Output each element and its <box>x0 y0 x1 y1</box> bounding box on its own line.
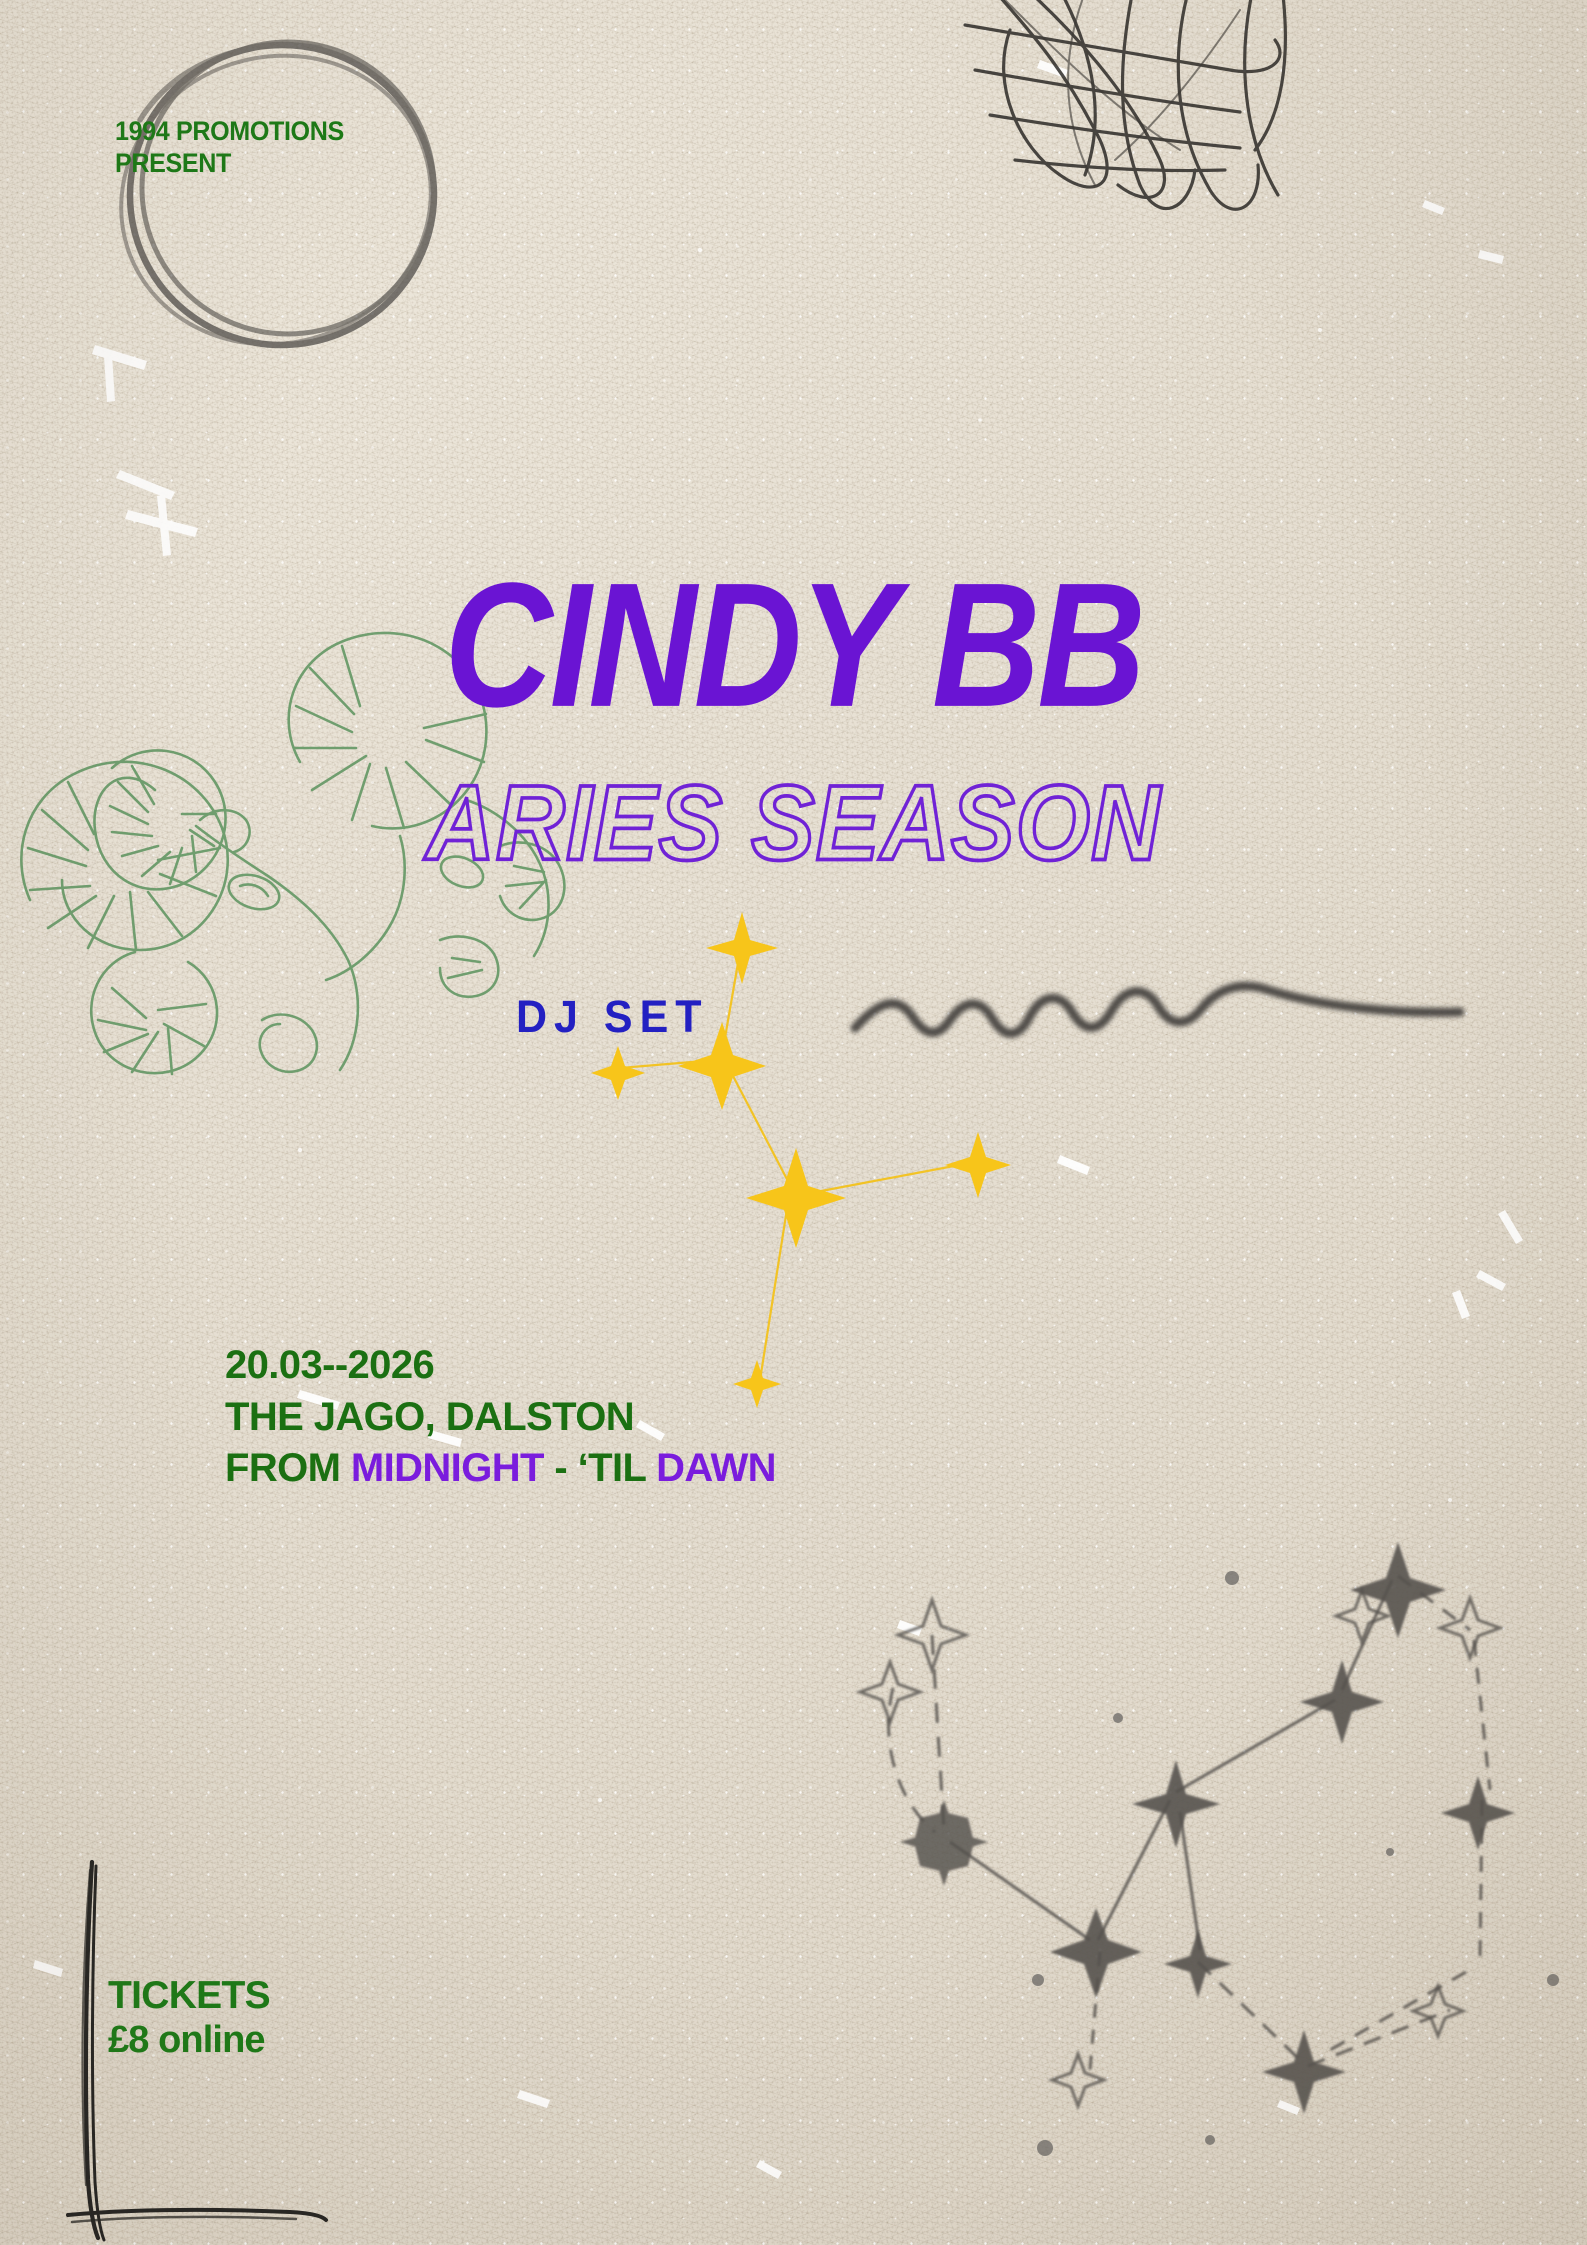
paper-fleck-texture <box>0 0 1587 2245</box>
event-time-prefix: FROM <box>225 1446 351 1490</box>
event-venue: THE JAGO, DALSTON <box>225 1392 776 1444</box>
promoter-block: 1994 PROMOTIONS PRESENT <box>95 38 425 273</box>
event-details: 20.03--2026 THE JAGO, DALSTON FROM MIDNI… <box>225 1340 776 1495</box>
event-time-start: MIDNIGHT <box>351 1446 544 1490</box>
event-time-end: DAWN <box>656 1446 776 1490</box>
tickets-heading: TICKETS <box>108 1973 270 2018</box>
event-date: 20.03--2026 <box>225 1340 776 1392</box>
promoter-text: 1994 PROMOTIONS PRESENT <box>115 116 344 180</box>
event-time: FROM MIDNIGHT - ‘TIL DAWN <box>225 1443 776 1495</box>
tickets-block: TICKETS £8 online <box>108 1973 270 2062</box>
tickets-price: £8 online <box>108 2018 270 2062</box>
event-time-separator: - ‘TIL <box>544 1446 656 1490</box>
poster-canvas: 1994 PROMOTIONS PRESENT <box>0 0 1587 2245</box>
dj-set-label: DJ SET <box>516 992 709 1043</box>
subtitle: ARIES SEASON <box>0 770 1587 877</box>
page-title: CINDY BB <box>0 556 1587 733</box>
